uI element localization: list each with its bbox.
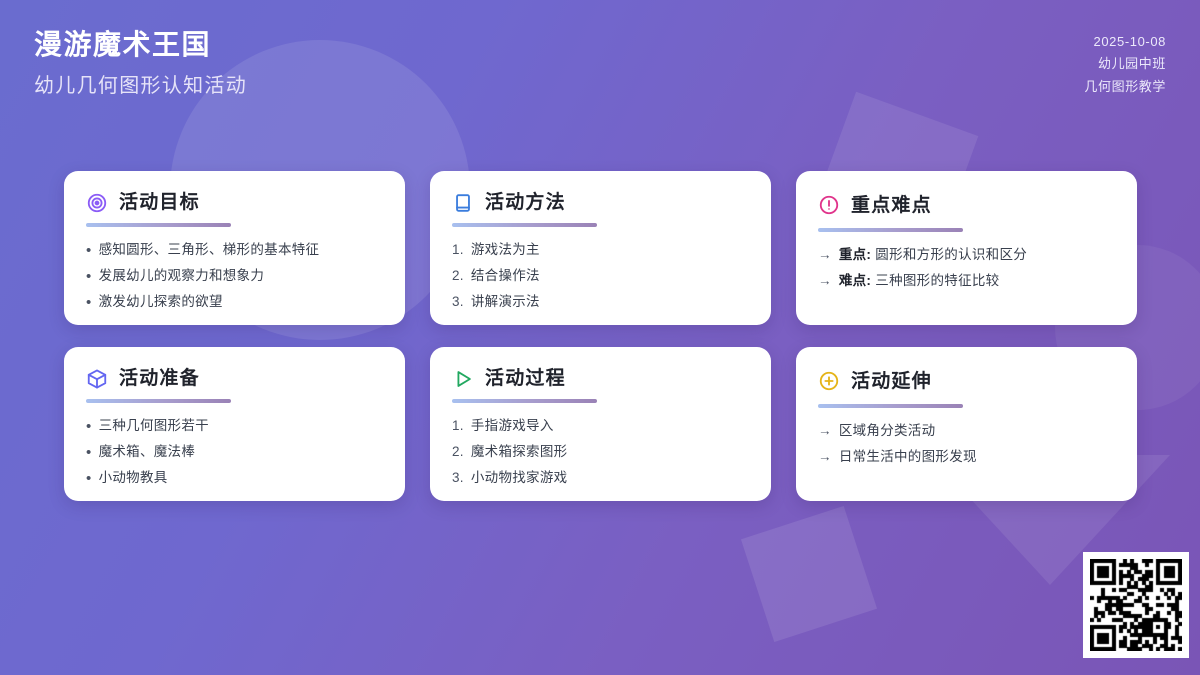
list-item-value: 三种图形的特征比较 bbox=[875, 273, 999, 288]
list-marker: • bbox=[86, 269, 92, 284]
plus-circle-icon bbox=[818, 370, 840, 392]
list-marker: 2. bbox=[452, 442, 464, 461]
list-item-text: 游戏法为主 bbox=[471, 240, 749, 259]
card-activity-preparation[interactable]: 活动准备•三种几何图形若干•魔术箱、魔法棒•小动物教具 bbox=[64, 347, 405, 501]
list-item: •三种几何图形若干 bbox=[86, 416, 383, 435]
card-activity-method[interactable]: 活动方法1.游戏法为主2.结合操作法3.讲解演示法 bbox=[430, 171, 771, 325]
list-item: •激发幼儿探索的欲望 bbox=[86, 292, 383, 311]
card-title: 活动目标 bbox=[119, 193, 200, 212]
list-item-label: 难点: bbox=[839, 273, 871, 288]
card-body: 1.手指游戏导入2.魔术箱探索图形3.小动物找家游戏 bbox=[452, 416, 749, 487]
card-accent-bar bbox=[86, 223, 231, 226]
header-date: 2025-10-08 bbox=[1094, 31, 1167, 53]
list-marker: • bbox=[86, 471, 92, 486]
card-header: 活动延伸 bbox=[818, 367, 1115, 395]
list-item-text: 魔术箱探索图形 bbox=[471, 442, 749, 461]
cube-icon bbox=[86, 368, 108, 390]
card-key-difficult-points[interactable]: 重点难点→重点: 圆形和方形的认识和区分→难点: 三种图形的特征比较 bbox=[796, 171, 1137, 325]
list-item: →重点: 圆形和方形的认识和区分 bbox=[818, 245, 1115, 264]
list-item: 1.游戏法为主 bbox=[452, 240, 749, 259]
card-body: •三种几何图形若干•魔术箱、魔法棒•小动物教具 bbox=[86, 416, 383, 487]
target-icon bbox=[86, 192, 108, 214]
card-header: 活动准备 bbox=[86, 367, 383, 390]
card-accent-bar bbox=[452, 223, 597, 226]
list-item: →日常生活中的图形发现 bbox=[818, 447, 1115, 466]
alert-circle-icon bbox=[818, 194, 840, 216]
card-header: 活动目标 bbox=[86, 191, 383, 214]
list-item: →区域角分类活动 bbox=[818, 421, 1115, 440]
card-body: →重点: 圆形和方形的认识和区分→难点: 三种图形的特征比较 bbox=[818, 245, 1115, 290]
list-item-text: 发展幼儿的观察力和想象力 bbox=[99, 266, 383, 285]
qr-code-image bbox=[1090, 559, 1182, 651]
card-title: 活动方法 bbox=[485, 193, 566, 212]
card-body: •感知圆形、三角形、梯形的基本特征•发展幼儿的观察力和想象力•激发幼儿探索的欲望 bbox=[86, 240, 383, 311]
list-item-text: 小动物教具 bbox=[99, 468, 383, 487]
list-marker: 2. bbox=[452, 266, 464, 285]
list-item: 1.手指游戏导入 bbox=[452, 416, 749, 435]
list-item-text: 三种几何图形若干 bbox=[99, 416, 383, 435]
list-item: →难点: 三种图形的特征比较 bbox=[818, 271, 1115, 290]
page-subtitle: 幼儿几何图形认知活动 bbox=[34, 73, 247, 99]
card-activity-goal[interactable]: 活动目标•感知圆形、三角形、梯形的基本特征•发展幼儿的观察力和想象力•激发幼儿探… bbox=[64, 171, 405, 325]
list-item: •发展幼儿的观察力和想象力 bbox=[86, 266, 383, 285]
list-item-text: 感知圆形、三角形、梯形的基本特征 bbox=[99, 240, 383, 259]
header-title-group: 漫游魔术王国 幼儿几何图形认知活动 bbox=[34, 26, 247, 99]
card-grid: 活动目标•感知圆形、三角形、梯形的基本特征•发展幼儿的观察力和想象力•激发幼儿探… bbox=[64, 171, 1139, 501]
slide-header: 漫游魔术王国 幼儿几何图形认知活动 2025-10-08 幼儿园中班 几何图形教… bbox=[0, 0, 1200, 130]
card-header: 活动过程 bbox=[452, 367, 749, 390]
header-grade: 幼儿园中班 bbox=[1098, 53, 1166, 75]
list-item: •魔术箱、魔法棒 bbox=[86, 442, 383, 461]
list-marker: 3. bbox=[452, 468, 464, 487]
list-item-text: 日常生活中的图形发现 bbox=[839, 447, 1115, 466]
decor-square-bottom bbox=[741, 506, 877, 642]
list-item-text: 讲解演示法 bbox=[471, 292, 749, 311]
list-item: 2.魔术箱探索图形 bbox=[452, 442, 749, 461]
card-accent-bar bbox=[86, 399, 231, 402]
list-item-text: 激发幼儿探索的欲望 bbox=[99, 292, 383, 311]
card-title: 活动延伸 bbox=[851, 372, 932, 391]
list-item-text: 魔术箱、魔法棒 bbox=[99, 442, 383, 461]
list-item-value: 圆形和方形的认识和区分 bbox=[875, 247, 1027, 262]
card-accent-bar bbox=[818, 228, 963, 232]
list-item-text: 区域角分类活动 bbox=[839, 421, 1115, 440]
card-accent-bar bbox=[452, 399, 597, 402]
card-body: →区域角分类活动→日常生活中的图形发现 bbox=[818, 421, 1115, 466]
list-item: 3.讲解演示法 bbox=[452, 292, 749, 311]
card-title: 重点难点 bbox=[851, 196, 932, 215]
list-marker: 1. bbox=[452, 416, 464, 435]
list-marker: → bbox=[818, 421, 832, 440]
list-marker: • bbox=[86, 295, 92, 310]
list-item-text: 难点: 三种图形的特征比较 bbox=[839, 271, 1115, 290]
card-header: 重点难点 bbox=[818, 191, 1115, 219]
list-item-text: 手指游戏导入 bbox=[471, 416, 749, 435]
card-activity-extension[interactable]: 活动延伸→区域角分类活动→日常生活中的图形发现 bbox=[796, 347, 1137, 501]
list-marker: • bbox=[86, 419, 92, 434]
book-icon bbox=[452, 192, 474, 214]
list-marker: → bbox=[818, 245, 832, 264]
list-item: 3.小动物找家游戏 bbox=[452, 468, 749, 487]
list-item-text: 小动物找家游戏 bbox=[471, 468, 749, 487]
list-marker: • bbox=[86, 445, 92, 460]
list-item-label: 重点: bbox=[839, 247, 871, 262]
list-item: •感知圆形、三角形、梯形的基本特征 bbox=[86, 240, 383, 259]
list-item-text: 重点: 圆形和方形的认识和区分 bbox=[839, 245, 1115, 264]
header-meta: 2025-10-08 幼儿园中班 几何图形教学 bbox=[1084, 26, 1166, 98]
card-header: 活动方法 bbox=[452, 191, 749, 214]
list-marker: 1. bbox=[452, 240, 464, 259]
slide-canvas: 漫游魔术王国 幼儿几何图形认知活动 2025-10-08 幼儿园中班 几何图形教… bbox=[0, 0, 1200, 675]
list-marker: → bbox=[818, 271, 832, 290]
list-marker: 3. bbox=[452, 292, 464, 311]
card-accent-bar bbox=[818, 404, 963, 408]
header-subject: 几何图形教学 bbox=[1084, 76, 1166, 98]
list-item: •小动物教具 bbox=[86, 468, 383, 487]
play-triangle-icon bbox=[452, 368, 474, 390]
card-body: 1.游戏法为主2.结合操作法3.讲解演示法 bbox=[452, 240, 749, 311]
card-activity-process[interactable]: 活动过程1.手指游戏导入2.魔术箱探索图形3.小动物找家游戏 bbox=[430, 347, 771, 501]
list-marker: • bbox=[86, 243, 92, 258]
list-marker: → bbox=[818, 447, 832, 466]
list-item-text: 结合操作法 bbox=[471, 266, 749, 285]
card-title: 活动过程 bbox=[485, 369, 566, 388]
page-title: 漫游魔术王国 bbox=[34, 26, 247, 64]
list-item: 2.结合操作法 bbox=[452, 266, 749, 285]
card-title: 活动准备 bbox=[119, 369, 200, 388]
qr-code[interactable] bbox=[1083, 552, 1189, 658]
